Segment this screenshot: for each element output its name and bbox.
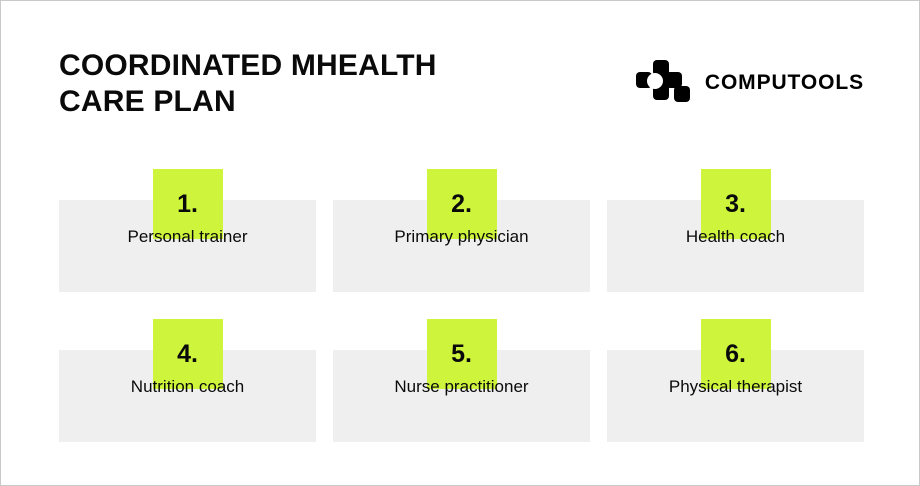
- card-number: 4.: [177, 342, 198, 367]
- brand-name: COMPUTOOLS: [705, 72, 864, 93]
- care-card-1[interactable]: 1. Personal trainer: [59, 169, 316, 319]
- computools-blocks-icon: [636, 60, 694, 104]
- card-label: Personal trainer: [59, 226, 316, 248]
- care-card-4[interactable]: 4. Nutrition coach: [59, 319, 316, 469]
- card-label: Health coach: [607, 226, 864, 248]
- care-card-2[interactable]: 2. Primary physician: [333, 169, 590, 319]
- card-number: 1.: [177, 192, 198, 217]
- card-label: Nurse practitioner: [333, 376, 590, 398]
- card-label: Primary physician: [333, 226, 590, 248]
- care-card-3[interactable]: 3. Health coach: [607, 169, 864, 319]
- card-label: Physical therapist: [607, 376, 864, 398]
- slide-canvas: Coordinated mHealth Care Plan COMPUTOOLS: [0, 0, 920, 486]
- care-team-grid: 1. Personal trainer 2. Primary physician…: [59, 169, 864, 469]
- care-card-5[interactable]: 5. Nurse practitioner: [333, 319, 590, 469]
- card-number: 6.: [725, 342, 746, 367]
- care-card-6[interactable]: 6. Physical therapist: [607, 319, 864, 469]
- slide-header: Coordinated mHealth Care Plan COMPUTOOLS: [1, 1, 920, 151]
- page-title: Coordinated mHealth Care Plan: [59, 48, 437, 120]
- card-number: 3.: [725, 192, 746, 217]
- card-number: 5.: [451, 342, 472, 367]
- brand-lockup: COMPUTOOLS: [636, 59, 864, 105]
- card-label: Nutrition coach: [59, 376, 316, 398]
- card-number: 2.: [451, 192, 472, 217]
